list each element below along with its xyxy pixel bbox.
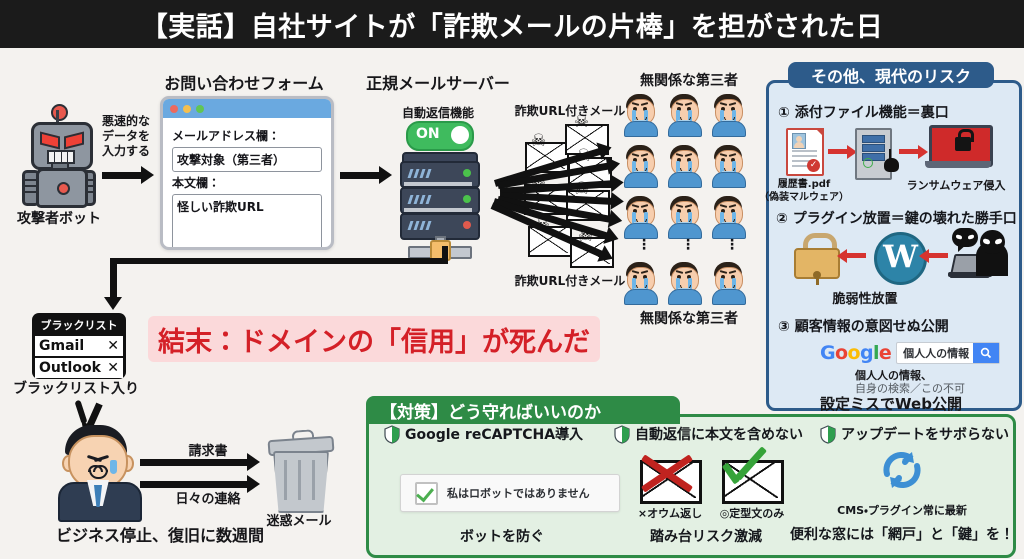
- google-logo-o2: o: [847, 342, 859, 364]
- autoreply-label: 自動返信機能: [402, 104, 474, 121]
- modern-risks-title: その他、現代のリスク: [811, 63, 971, 87]
- scam-mail-label-bottom: 詐欺URL付きメール: [515, 272, 626, 289]
- skull-icon: ☠: [575, 147, 592, 165]
- attacker-action-line-3: 入力する: [102, 144, 150, 159]
- scam-mail-label-top: 詐欺URL付きメール: [515, 102, 626, 119]
- google-logo: Google: [820, 342, 891, 364]
- arrow-form-to-server: [340, 172, 380, 179]
- blacklist-title: ブラックリスト: [35, 316, 123, 336]
- hacker-icon: [952, 228, 1008, 280]
- victim-face: [711, 94, 745, 134]
- countermeasures-tab: 【対策】どう守ればいいのか: [366, 396, 680, 424]
- blacklist-provider-name: Gmail: [39, 338, 84, 354]
- trash-bin-icon: [268, 430, 330, 510]
- blocked-x-icon: ✕: [107, 360, 119, 376]
- arrow-daily-to-spam: [140, 481, 248, 488]
- contact-form-caption: お問い合わせフォーム: [164, 70, 324, 94]
- arrow-to-blacklist: [110, 258, 117, 298]
- daily-contact-label: 日々の連絡: [175, 488, 240, 507]
- red-arrow: [928, 253, 948, 258]
- pdf-file-icon: ✓: [786, 128, 824, 176]
- recaptcha-checkbox[interactable]: [415, 482, 438, 505]
- skull-icon: ☠: [530, 174, 547, 192]
- server-tower-icon: [855, 128, 892, 180]
- aftermath-caption: ビジネス停止、復旧に数週間: [56, 522, 264, 546]
- infected-laptop-icon: [925, 125, 991, 171]
- fix-3-heading: アップデートをサボらない: [841, 424, 1009, 444]
- victim-face: [711, 196, 745, 236]
- contact-form-window: メールアドレス欄： 攻撃対象（第三者） 本文欄： 怪しい詐欺URL: [160, 96, 334, 250]
- google-search-input[interactable]: 個人人の情報: [896, 342, 1000, 364]
- check-badge-icon: ✓: [807, 159, 820, 172]
- minimize-icon[interactable]: [183, 105, 191, 113]
- window-titlebar: [163, 99, 331, 118]
- blacklist-caption: ブラックリスト入り: [13, 378, 139, 398]
- fix-3-sub: CMS・プラグイン常に最新: [837, 502, 967, 518]
- victim-face: [623, 145, 657, 185]
- risk-1-result-label: ランサムウェア侵入: [907, 177, 1006, 193]
- shield-icon: [384, 425, 400, 444]
- autoreply-toggle[interactable]: ON: [406, 121, 474, 151]
- blacklist-card: ブラックリスト Gmail ✕ Outlook ✕: [32, 313, 126, 379]
- fix-2-sub-right: ◎定型文のみ: [720, 505, 785, 521]
- fix-2-header: 自動返信に本文を含めない: [614, 424, 803, 444]
- red-arrow: [899, 149, 919, 154]
- blocked-x-icon: ✕: [107, 338, 119, 354]
- lock-icon: [955, 137, 971, 151]
- fix-2-sub-left: ×オウム返し: [638, 505, 702, 521]
- invoice-label: 請求書: [188, 440, 227, 459]
- red-arrow: [846, 253, 866, 258]
- victim-face: [623, 262, 657, 302]
- risk-1-file-sub: （偽装マルウェア）: [759, 188, 849, 203]
- shield-icon: [820, 425, 836, 444]
- ellipsis-icon: ⋮: [725, 237, 739, 253]
- risk-3-heading: ③ 顧客情報の意図せぬ公開: [778, 316, 949, 336]
- victims-label-bottom: 無関係な第三者: [640, 308, 738, 328]
- skull-icon: ☠: [573, 180, 590, 198]
- attacker-action-line-2: データを: [102, 129, 150, 144]
- google-logo-o1: o: [835, 342, 847, 364]
- update-refresh-icon: [878, 448, 926, 492]
- victim-face: [711, 262, 745, 302]
- fix-1-footer: ボットを防ぐ: [460, 526, 544, 546]
- google-logo-g2: g: [860, 342, 873, 364]
- skull-icon: ☠: [573, 113, 590, 131]
- shield-icon: [614, 425, 630, 444]
- victim-face: [623, 94, 657, 134]
- page-title: 【実話】自社サイトが「詐欺メールの片棒」を担がされた日: [141, 5, 884, 44]
- countermeasures-title: 【対策】どう守ればいいのか: [380, 398, 601, 423]
- fix-2-heading: 自動返信に本文を含めない: [635, 424, 803, 444]
- mail-server-icon: [398, 152, 478, 250]
- skull-icon: ☠: [534, 216, 551, 234]
- blacklist-row: Gmail ✕: [35, 336, 123, 358]
- ellipsis-icon: ⋮: [637, 237, 651, 253]
- arrow-to-aftermath: [87, 403, 103, 428]
- approved-mail-icon: [722, 460, 784, 504]
- blacklist-row: Outlook ✕: [35, 358, 123, 378]
- business-owner-icon: [58, 425, 138, 517]
- arrow-bot-to-form: [102, 172, 142, 179]
- risk-3-caption: 設定ミスでWeb公開: [820, 393, 962, 414]
- elbow-vertical-up: [442, 246, 448, 264]
- risk-1-heading: ① 添付ファイル機能＝裏口: [778, 102, 949, 122]
- body-field-label: 本文欄：: [172, 174, 322, 191]
- victim-face: [667, 196, 701, 236]
- skull-icon: ☠: [577, 227, 594, 245]
- spam-mail-caption: 迷惑メール: [266, 510, 331, 529]
- attacker-bot-icon: [20, 110, 98, 206]
- risk-2-heading: ② プラグイン放置＝鍵の壊れた勝手口: [776, 208, 1017, 228]
- ellipsis-icon: ⋮: [681, 237, 695, 253]
- google-logo-g1: G: [820, 342, 835, 364]
- attacker-action-line-1: 悪速的な: [102, 114, 150, 129]
- fix-3-header: アップデートをサボらない: [820, 424, 1009, 444]
- skull-icon: ☠: [530, 132, 547, 150]
- search-query-value: 個人人の情報: [897, 345, 969, 361]
- elbow-horizontal: [110, 258, 448, 264]
- mouse-icon: [884, 158, 899, 172]
- body-field[interactable]: 怪しい詐欺URL: [172, 194, 322, 250]
- conclusion-text: 結末：ドメインの「信用」が死んだ: [158, 320, 590, 359]
- fix-1-heading: Google reCAPTCHA導入: [405, 424, 583, 444]
- recaptcha-label: 私はロボットではありません: [447, 485, 590, 501]
- toggle-state-label: ON: [416, 126, 440, 142]
- infographic-canvas: 【実話】自社サイトが「詐欺メールの片棒」を担がされた日 攻撃者ボット 悪速的な …: [0, 0, 1024, 559]
- attacker-bot-label: 攻撃者ボット: [17, 208, 101, 228]
- email-field-label: メールアドレス欄：: [172, 127, 322, 144]
- search-icon: [980, 347, 992, 359]
- victim-face: [711, 145, 745, 185]
- google-logo-e: e: [879, 342, 891, 364]
- fix-1-header: Google reCAPTCHA導入: [384, 424, 583, 444]
- red-arrow: [828, 149, 848, 154]
- google-search-mock: Google 個人人の情報: [820, 342, 1000, 363]
- broken-padlock-icon: [794, 235, 836, 275]
- recaptcha-widget[interactable]: 私はロボットではありません: [400, 474, 620, 512]
- email-field[interactable]: 攻撃対象（第三者）: [172, 147, 322, 172]
- victims-label-top: 無関係な第三者: [640, 70, 738, 90]
- fix-2-footer: 踏み台リスク激減: [650, 526, 762, 546]
- risk-2-caption: 脆弱性放置: [832, 288, 897, 307]
- mail-server-caption: 正規メールサーバー: [366, 70, 510, 94]
- arrow-invoice-to-spam: [140, 459, 248, 466]
- maximize-icon[interactable]: [196, 105, 204, 113]
- modern-risks-tab: その他、現代のリスク: [788, 62, 994, 88]
- blacklist-provider-name: Outlook: [39, 360, 101, 376]
- fix-3-footer: 便利な窓には「網戸」と「鍵」を！: [790, 524, 1014, 544]
- close-icon[interactable]: [170, 105, 178, 113]
- victim-face: [667, 145, 701, 185]
- conclusion-banner: 結末：ドメインの「信用」が死んだ: [148, 316, 600, 362]
- page-title-bar: 【実話】自社サイトが「詐欺メールの片棒」を担がされた日: [0, 0, 1024, 48]
- victim-face: [667, 94, 701, 134]
- search-button[interactable]: [973, 343, 999, 363]
- victim-face: [667, 262, 701, 302]
- victim-face: [623, 196, 657, 236]
